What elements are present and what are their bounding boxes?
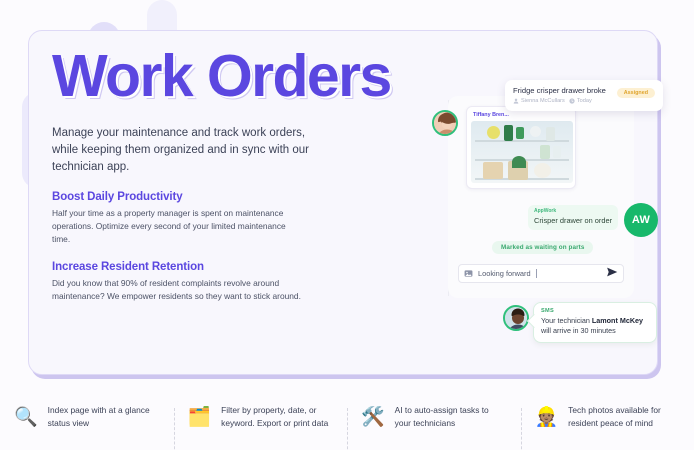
sms-line1-prefix: Your technician <box>541 316 592 325</box>
outgoing-sender-name: AppWork <box>534 208 612 214</box>
ticket-meta: Sienna McCullars Today <box>513 98 655 104</box>
feature-label: Tech photos available for resident peace… <box>568 404 680 430</box>
avatar-resident <box>432 110 458 136</box>
section-1-title: Boost Daily Productivity <box>52 191 183 203</box>
clock-icon <box>569 98 575 104</box>
tools-icon: 🛠️ <box>361 408 385 427</box>
image-icon[interactable] <box>464 265 473 283</box>
ticket-date: Today <box>569 98 592 104</box>
sms-line2: will arrive in 30 minutes <box>541 326 616 335</box>
sms-notification-card[interactable]: SMS Your technician Lamont McKey will ar… <box>533 302 657 343</box>
ticket-assignee: Sienna McCullars <box>513 98 565 104</box>
message-input-value[interactable]: Looking forward <box>478 269 531 278</box>
ticket-status-badge: Assigned <box>617 88 655 98</box>
sms-technician-name: Lamont McKey <box>592 316 643 325</box>
feature-strip: 🔍 Index page with at a glance status vie… <box>0 386 694 448</box>
feature-label: AI to auto-assign tasks to your technici… <box>395 404 507 430</box>
hero-subhead: Manage your maintenance and track work o… <box>52 125 317 176</box>
incoming-sender-name: Tiffany Bren... <box>473 112 571 118</box>
send-icon[interactable] <box>606 265 618 283</box>
incoming-message-card[interactable]: Tiffany Bren... <box>466 106 576 189</box>
feature-item-index-page[interactable]: 🔍 Index page with at a glance status vie… <box>0 404 174 430</box>
outgoing-message-bubble[interactable]: AppWork Crisper drawer on order <box>528 205 618 230</box>
sms-label: SMS <box>541 308 649 314</box>
section-2-body: Did you know that 90% of resident compla… <box>52 277 320 303</box>
avatar-appwork: AW <box>624 203 658 237</box>
feature-label: Index page with at a glance status view <box>48 404 160 430</box>
page-root: Work Orders Manage your maintenance and … <box>0 0 694 450</box>
section-1-body: Half your time as a property manager is … <box>52 207 304 246</box>
ticket-date-value: Today <box>577 98 592 104</box>
message-attachment-photo[interactable] <box>471 121 573 183</box>
text-caret <box>536 269 537 278</box>
section-2-title: Increase Resident Retention <box>52 261 204 273</box>
ticket-assignee-name: Sienna McCullars <box>521 98 565 104</box>
work-order-ticket-card[interactable]: Fridge crisper drawer broke Sienna McCul… <box>505 80 663 111</box>
feature-item-tech-photos[interactable]: 👷🏽 Tech photos available for resident pe… <box>521 404 694 430</box>
page-title: Work Orders <box>52 42 391 110</box>
worker-icon: 👷🏽 <box>535 408 559 427</box>
ticket-title: Fridge crisper drawer broke <box>513 86 609 96</box>
card-index-icon: 🗂️ <box>188 408 212 427</box>
feature-label: Filter by property, date, or keyword. Ex… <box>221 404 333 430</box>
magnifier-icon: 🔍 <box>14 408 38 427</box>
feature-item-ai-assign[interactable]: 🛠️ AI to auto-assign tasks to your techn… <box>347 404 521 430</box>
status-badge: Marked as waiting on parts <box>492 241 593 254</box>
person-icon <box>513 98 519 104</box>
avatar-technician <box>503 305 529 331</box>
feature-item-filter[interactable]: 🗂️ Filter by property, date, or keyword.… <box>174 404 348 430</box>
sms-body: Your technician Lamont McKey will arrive… <box>541 316 649 336</box>
message-composer[interactable]: Looking forward <box>458 264 624 283</box>
outgoing-message-text: Crisper drawer on order <box>534 216 612 225</box>
